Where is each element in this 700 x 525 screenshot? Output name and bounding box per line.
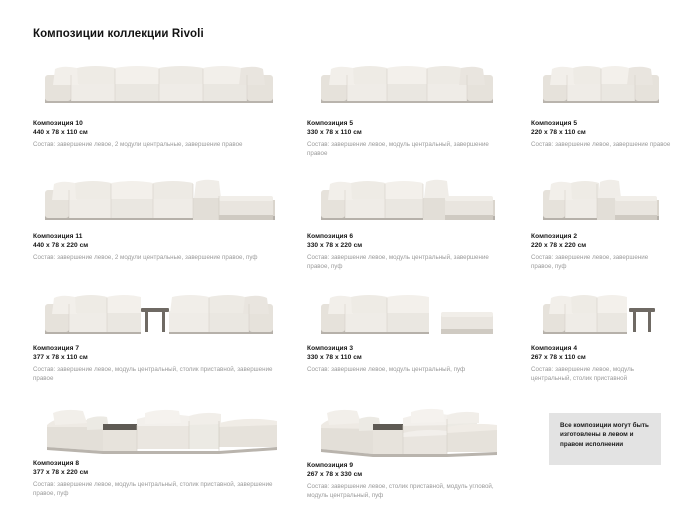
sofa-illustration-straight-table — [33, 282, 285, 340]
info-note-box: Все композиции могут быть изготовлены в … — [549, 413, 661, 465]
sofa-illustration-straight-ottoman — [307, 282, 507, 340]
composition-dimensions: 220 x 78 x 220 см — [531, 241, 671, 250]
composition-card[interactable]: Композиция 11 440 x 78 x 220 см Состав: … — [33, 168, 285, 262]
composition-card[interactable]: Композиция 3 330 x 78 x 110 см Состав: з… — [307, 282, 507, 374]
composition-dimensions: 267 x 78 x 330 см — [307, 470, 507, 479]
sofa-illustration-l-shape-4 — [33, 168, 285, 228]
composition-title: Композиция 7 — [33, 344, 285, 353]
composition-title: Композиция 10 — [33, 119, 285, 128]
sofa-illustration-perspective-l-table — [33, 397, 285, 455]
composition-card[interactable]: Композиция 5 220 x 78 x 110 см Состав: з… — [531, 55, 671, 149]
composition-card[interactable]: Композиция 9 267 x 78 x 330 см Состав: з… — [307, 397, 507, 501]
composition-dimensions: 330 x 78 x 110 см — [307, 128, 507, 137]
sofa-illustration-straight-4 — [33, 55, 285, 110]
composition-image-comp-10 — [33, 55, 285, 110]
composition-image-comp-6 — [307, 168, 507, 228]
composition-description: Состав: завершение левое, модуль централ… — [307, 365, 507, 374]
composition-title: Композиция 5 — [307, 119, 507, 128]
composition-title: Композиция 6 — [307, 232, 507, 241]
sofa-illustration-l-shape-3 — [307, 168, 507, 228]
composition-image-comp-5a — [307, 55, 507, 110]
info-note-text: Все композиции могут быть изготовлены в … — [560, 421, 652, 449]
composition-dimensions: 330 x 78 x 110 см — [307, 353, 507, 362]
composition-title: Композиция 9 — [307, 461, 507, 470]
composition-image-comp-2 — [531, 168, 671, 228]
composition-title: Композиция 4 — [531, 344, 671, 353]
composition-description: Состав: завершение левое, модуль централ… — [307, 253, 507, 272]
composition-description: Состав: завершение левое, модуль централ… — [531, 365, 671, 384]
catalog-page: Композиции коллекции Rivoli — [0, 0, 700, 525]
composition-title: Композиция 8 — [33, 459, 285, 468]
composition-image-comp-5b — [531, 55, 671, 110]
composition-card[interactable]: Композиция 7 377 x 78 x 110 см Состав: з… — [33, 282, 285, 384]
composition-dimensions: 377 x 78 x 110 см — [33, 353, 285, 362]
sofa-illustration-straight-3 — [307, 55, 507, 110]
composition-title: Композиция 11 — [33, 232, 285, 241]
composition-description: Состав: завершение левое, завершение пра… — [531, 140, 671, 149]
composition-dimensions: 377 x 78 x 220 см — [33, 468, 285, 477]
composition-image-comp-9 — [307, 397, 507, 459]
sofa-illustration-l-shape-2 — [531, 168, 671, 228]
composition-description: Состав: завершение левое, модуль централ… — [33, 480, 285, 499]
composition-description: Состав: завершение левое, модуль централ… — [33, 365, 285, 384]
composition-dimensions: 440 x 78 x 110 см — [33, 128, 285, 137]
composition-dimensions: 220 x 78 x 110 см — [531, 128, 671, 137]
composition-description: Состав: завершение левое, 2 модули центр… — [33, 140, 285, 149]
composition-card[interactable]: Композиция 6 330 x 78 x 220 см Состав: з… — [307, 168, 507, 272]
composition-image-comp-7 — [33, 282, 285, 340]
composition-card[interactable]: Композиция 4 267 x 78 x 110 см Состав: з… — [531, 282, 671, 384]
composition-image-comp-8 — [33, 397, 285, 455]
sofa-illustration-straight-2 — [531, 55, 671, 110]
composition-card[interactable]: Композиция 10 440 x 78 x 110 см Состав: … — [33, 55, 285, 149]
composition-title: Композиция 3 — [307, 344, 507, 353]
composition-description: Состав: завершение левое, завершение пра… — [531, 253, 671, 272]
composition-title: Композиция 5 — [531, 119, 671, 128]
composition-card[interactable]: Композиция 5 330 x 78 x 110 см Состав: з… — [307, 55, 507, 159]
composition-card[interactable]: Композиция 8 377 x 78 x 220 см Состав: з… — [33, 397, 285, 499]
composition-image-comp-3 — [307, 282, 507, 340]
composition-dimensions: 440 x 78 x 220 см — [33, 241, 285, 250]
sofa-illustration-straight-small-table — [531, 282, 671, 340]
composition-description: Состав: завершение левое, 2 модули центр… — [33, 253, 285, 262]
sofa-illustration-perspective-corner-big — [307, 397, 507, 459]
composition-description: Состав: завершение левое, столик пристав… — [307, 482, 507, 501]
composition-dimensions: 330 x 78 x 220 см — [307, 241, 507, 250]
composition-card[interactable]: Композиция 2 220 x 78 x 220 см Состав: з… — [531, 168, 671, 272]
composition-image-comp-11 — [33, 168, 285, 228]
composition-description: Состав: завершение левое, модуль централ… — [307, 140, 507, 159]
composition-dimensions: 267 x 78 x 110 см — [531, 353, 671, 362]
composition-image-comp-4 — [531, 282, 671, 340]
composition-title: Композиция 2 — [531, 232, 671, 241]
page-title: Композиции коллекции Rivoli — [33, 28, 204, 40]
